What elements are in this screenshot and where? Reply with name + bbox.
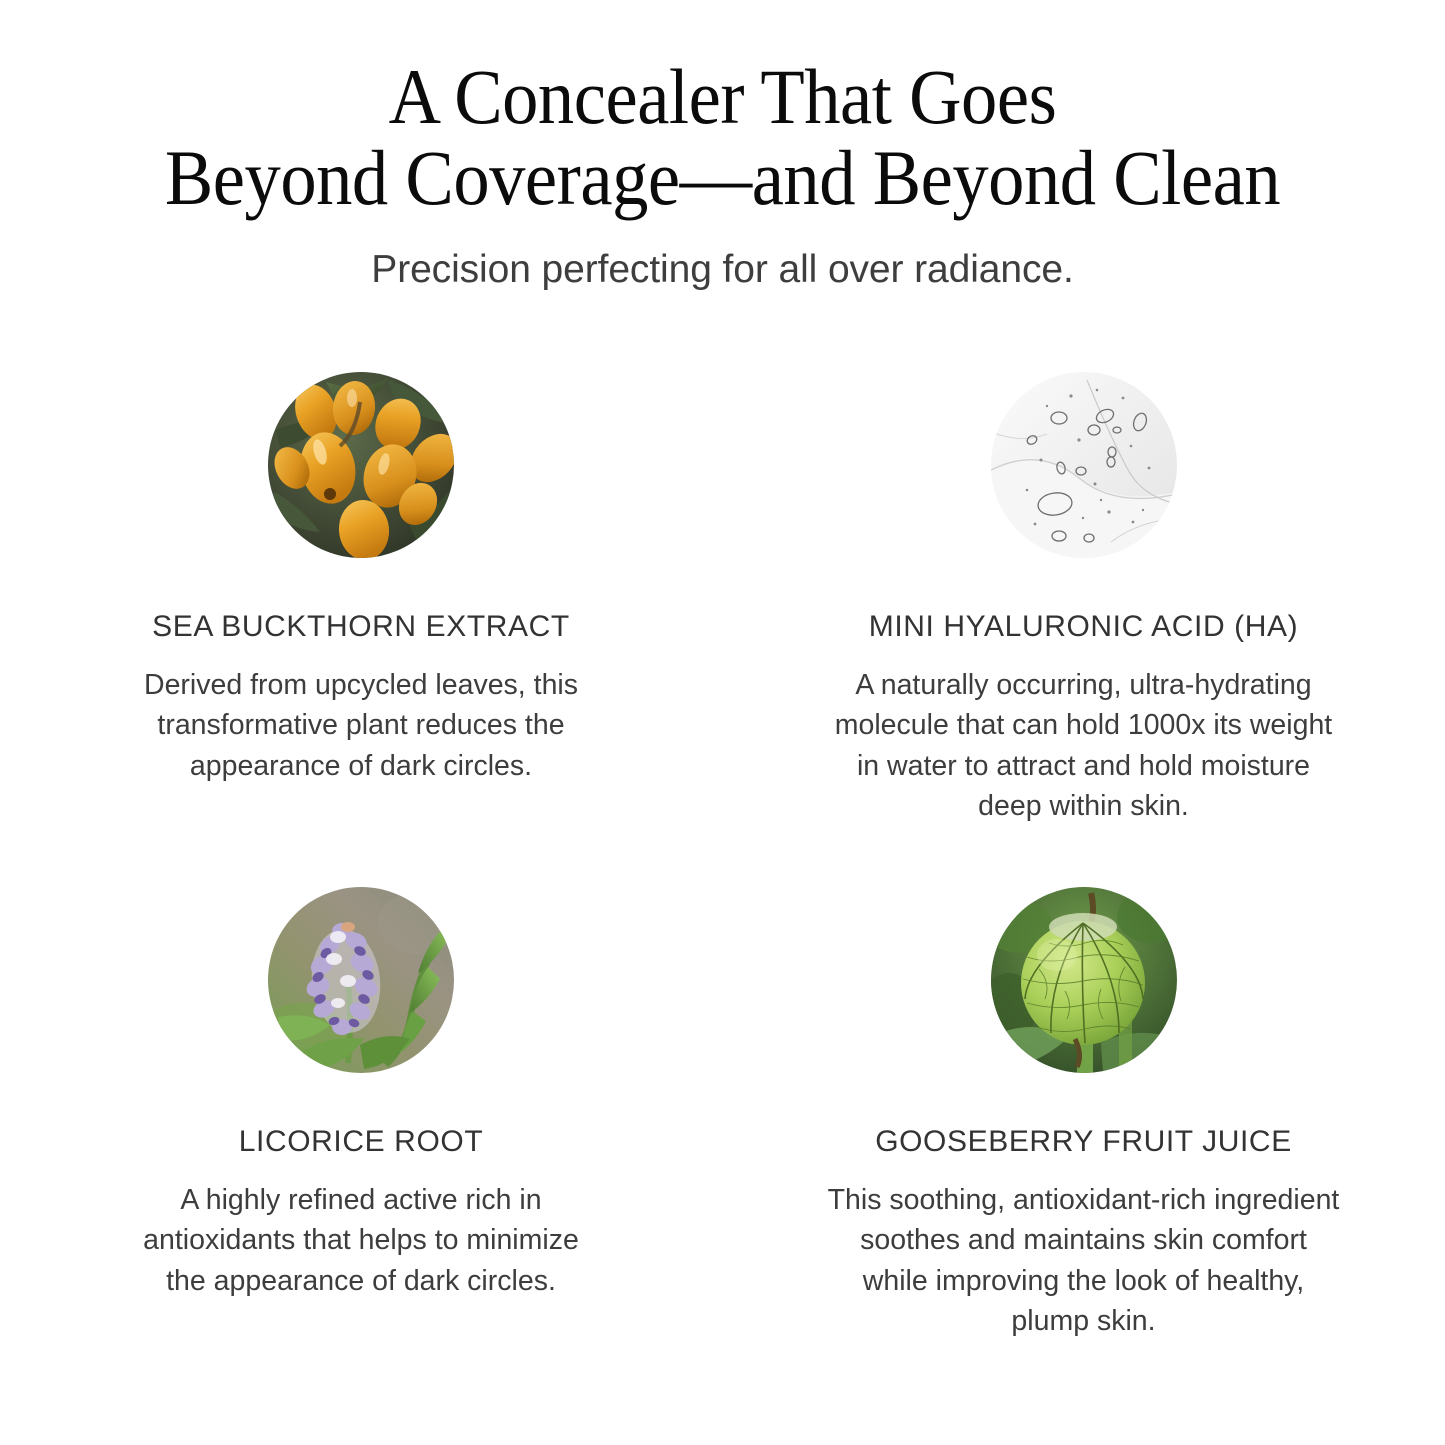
description-line: molecule that can hold 1000x its weight (835, 705, 1332, 745)
ingredient-description: Derived from upcycled leaves, this trans… (144, 665, 578, 786)
ingredient-title: GOOSEBERRY FRUIT JUICE (875, 1125, 1292, 1158)
ingredient-description: A naturally occurring, ultra-hydrating m… (835, 665, 1332, 827)
ingredient-card-gooseberry-fruit-juice: GOOSEBERRY FRUIT JUICE This soothing, an… (722, 875, 1445, 1390)
description-line: soothes and maintains skin comfort (828, 1220, 1340, 1260)
sea-buckthorn-berries-photo (268, 372, 454, 558)
description-line: antioxidants that helps to minimize (143, 1220, 579, 1260)
description-line: the appearance of dark circles. (143, 1261, 579, 1301)
description-line: Derived from upcycled leaves, this (144, 665, 578, 705)
headline-line-1: A Concealer That Goes (88, 56, 1357, 137)
description-line: plump skin. (828, 1301, 1340, 1341)
ingredient-title: LICORICE ROOT (239, 1125, 484, 1158)
page-title: A Concealer That Goes Beyond Coverage—an… (51, 56, 1395, 218)
description-line: This soothing, antioxidant-rich ingredie… (828, 1180, 1340, 1220)
description-line: while improving the look of healthy, (828, 1261, 1340, 1301)
ingredient-title: SEA BUCKTHORN EXTRACT (152, 610, 570, 643)
licorice-flower-photo (268, 887, 454, 1073)
hyaluronic-acid-gel-photo (991, 372, 1177, 558)
description-line: transformative plant reduces the (144, 705, 578, 745)
ingredient-title: MINI HYALURONIC ACID (HA) (869, 610, 1298, 643)
headline-line-2: Beyond Coverage—and Beyond Clean (88, 137, 1357, 218)
page-subtitle: Precision perfecting for all over radian… (0, 248, 1445, 292)
ingredient-description: This soothing, antioxidant-rich ingredie… (828, 1180, 1340, 1342)
ingredient-card-sea-buckthorn-extract: SEA BUCKTHORN EXTRACT Derived from upcyc… (0, 360, 722, 875)
description-line: deep within skin. (835, 786, 1332, 826)
ingredient-card-licorice-root: LICORICE ROOT A highly refined active ri… (0, 875, 722, 1390)
ingredient-infographic: A Concealer That Goes Beyond Coverage—an… (0, 0, 1445, 1445)
gooseberry-husk-photo (991, 887, 1177, 1073)
description-line: A highly refined active rich in (143, 1180, 579, 1220)
header: A Concealer That Goes Beyond Coverage—an… (0, 56, 1445, 292)
description-line: A naturally occurring, ultra-hydrating (835, 665, 1332, 705)
ingredient-description: A highly refined active rich in antioxid… (143, 1180, 579, 1301)
description-line: appearance of dark circles. (144, 746, 578, 786)
ingredient-card-mini-hyaluronic-acid: MINI HYALURONIC ACID (HA) A naturally oc… (722, 360, 1445, 875)
description-line: in water to attract and hold moisture (835, 746, 1332, 786)
ingredient-grid: SEA BUCKTHORN EXTRACT Derived from upcyc… (0, 360, 1445, 1390)
